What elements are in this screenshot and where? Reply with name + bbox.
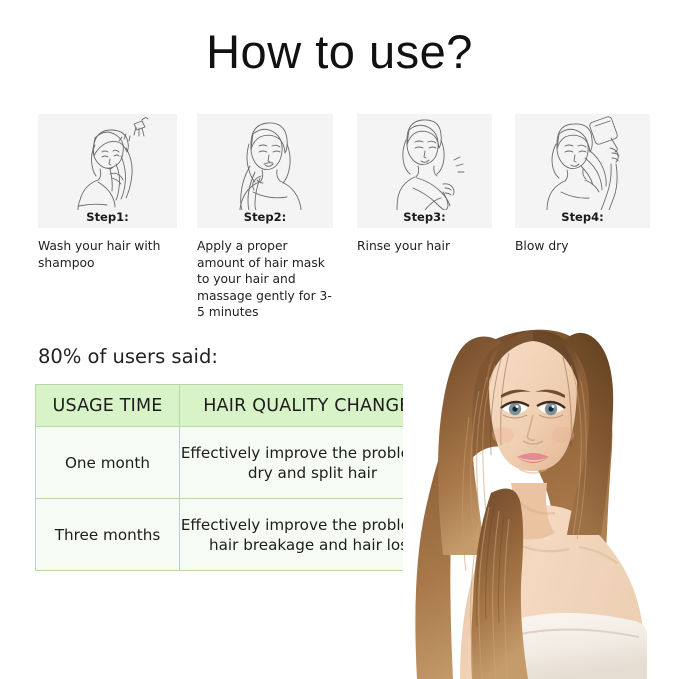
step-3-image-box: Step3: — [357, 114, 492, 228]
woman-blow-drying-hair-icon — [515, 114, 650, 210]
column-header-usage-time: USAGE TIME — [36, 385, 180, 427]
steps-row: Step1: Wash your hair with shampoo — [0, 114, 679, 294]
step-4-label: Step4: — [515, 210, 650, 224]
step-2-caption: Apply a proper amount of hair mask to yo… — [197, 238, 333, 321]
step-4-image-box: Step4: — [515, 114, 650, 228]
step-2-image-box: Step2: — [197, 114, 333, 228]
woman-applying-hair-mask-icon — [197, 114, 333, 210]
table-row: Three months Effectively improve the pro… — [36, 499, 446, 571]
hair-quality-results-table: USAGE TIME HAIR QUALITY CHANGES One mont… — [35, 384, 446, 571]
table-row: One month Effectively improve the proble… — [36, 427, 446, 499]
woman-towel-drying-hair-icon — [357, 114, 492, 210]
step-3-caption: Rinse your hair — [357, 238, 492, 255]
step-1-label: Step1: — [38, 210, 177, 224]
table-header-row: USAGE TIME HAIR QUALITY CHANGES — [36, 385, 446, 427]
step-4-caption: Blow dry — [515, 238, 650, 255]
step-item-2: Step2: Apply a proper amount of hair mas… — [197, 114, 333, 321]
model-photo — [403, 307, 679, 679]
page-title: How to use? — [0, 24, 679, 80]
step-item-1: Step1: Wash your hair with shampoo — [38, 114, 177, 271]
step-1-caption: Wash your hair with shampoo — [38, 238, 177, 271]
step-item-4: Step4: Blow dry — [515, 114, 650, 255]
step-3-label: Step3: — [357, 210, 492, 224]
woman-washing-hair-with-showerhead-icon — [38, 114, 177, 210]
results-heading: 80% of users said: — [38, 344, 218, 370]
cell-usage-time-2: Three months — [36, 499, 180, 571]
step-2-label: Step2: — [197, 210, 333, 224]
step-1-image-box: Step1: — [38, 114, 177, 228]
cell-usage-time-1: One month — [36, 427, 180, 499]
step-item-3: Step3: Rinse your hair — [357, 114, 492, 255]
